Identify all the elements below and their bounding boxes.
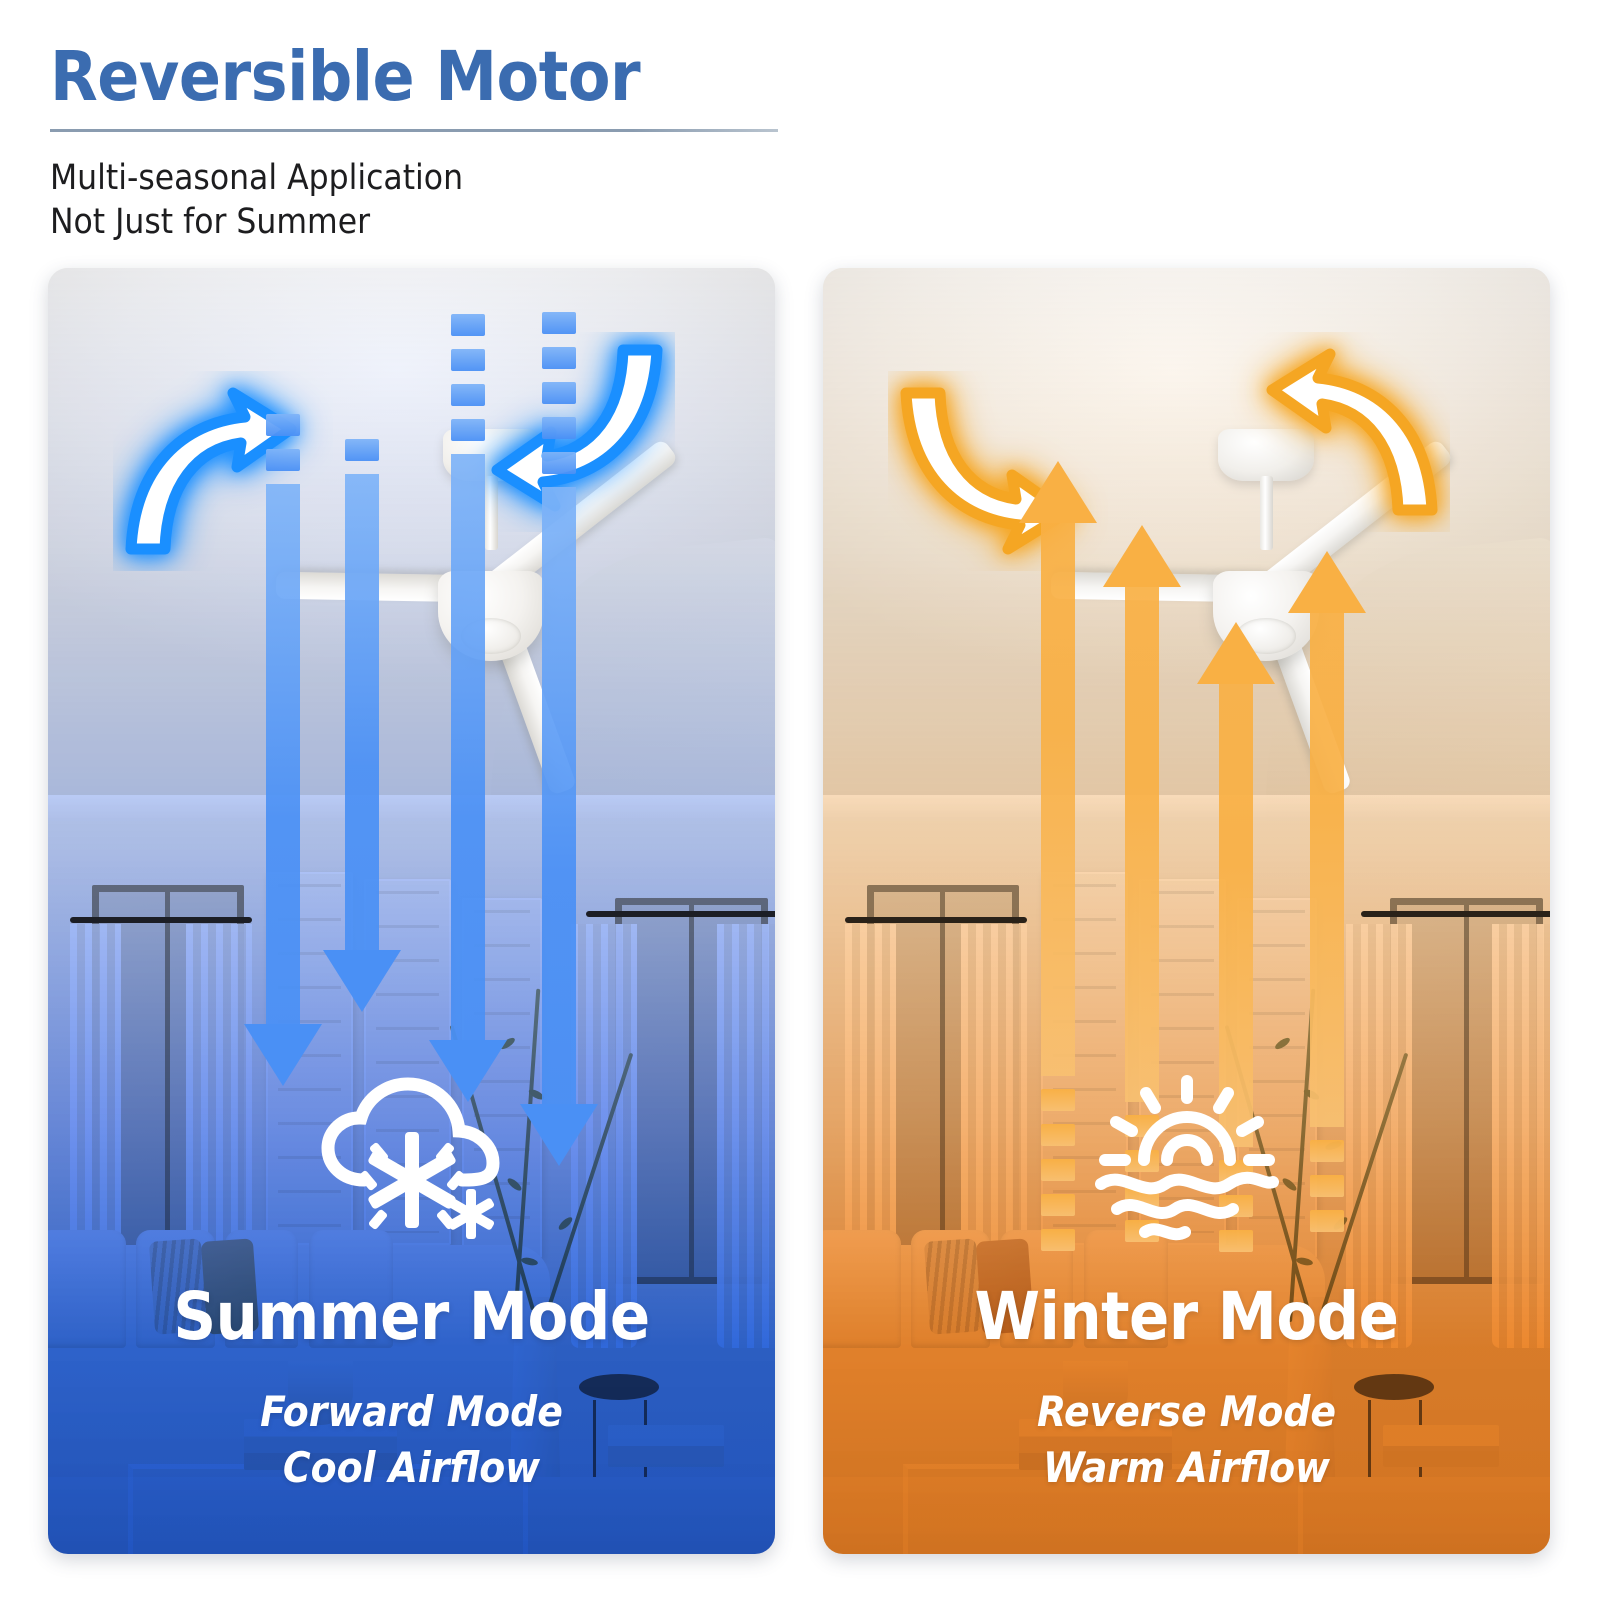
airflow-arrowhead bbox=[520, 1104, 598, 1166]
cloud-snowflake-icon bbox=[312, 1068, 512, 1248]
airflow-dash bbox=[542, 452, 576, 474]
airflow-dash bbox=[451, 384, 485, 406]
airflow-arrowhead bbox=[323, 950, 401, 1012]
airflow-arrow-up bbox=[1125, 525, 1159, 1111]
airflow-arrowhead bbox=[1103, 525, 1181, 587]
airflow-arrowhead bbox=[1019, 461, 1097, 523]
airflow-dash bbox=[1310, 1210, 1344, 1232]
airflow-dash bbox=[542, 417, 576, 439]
airflow-dash bbox=[345, 439, 379, 461]
mode-panels: Summer Mode Forward Mode Cool Airflow bbox=[48, 268, 1550, 1554]
infographic-page: Reversible Motor Multi-seasonal Applicat… bbox=[0, 0, 1598, 1598]
airflow-dash bbox=[1041, 1229, 1075, 1251]
airflow-arrowhead bbox=[1288, 551, 1366, 613]
mode-subtitle-summer: Forward Mode Cool Airflow bbox=[48, 1384, 775, 1495]
subtitle-line-2: Not Just for Summer bbox=[50, 200, 780, 245]
airflow-dash bbox=[542, 347, 576, 369]
page-subtitle: Multi-seasonal Application Not Just for … bbox=[50, 156, 780, 246]
airflow-arrow-down bbox=[266, 484, 300, 1096]
airflow-shaft bbox=[451, 454, 485, 1039]
airflow-dash bbox=[266, 449, 300, 471]
airflow-dash bbox=[542, 312, 576, 334]
mode-sub-line-1: Reverse Mode bbox=[823, 1384, 1550, 1439]
airflow-shaft bbox=[266, 484, 300, 1024]
panel-summer-mode[interactable]: Summer Mode Forward Mode Cool Airflow bbox=[48, 268, 775, 1554]
airflow-arrow-up bbox=[1041, 461, 1075, 1086]
header-block: Reversible Motor Multi-seasonal Applicat… bbox=[50, 40, 780, 245]
mode-sub-line-1: Forward Mode bbox=[48, 1384, 775, 1439]
curved-arrow-up-right-icon bbox=[113, 371, 333, 571]
airflow-dash bbox=[1041, 1089, 1075, 1111]
airflow-dash bbox=[1041, 1194, 1075, 1216]
airflow-dash bbox=[1310, 1140, 1344, 1162]
airflow-shaft bbox=[1125, 587, 1159, 1101]
airflow-dash bbox=[266, 414, 300, 436]
title-divider bbox=[50, 129, 778, 132]
airflow-dash bbox=[451, 419, 485, 441]
mode-sub-line-2: Warm Airflow bbox=[823, 1440, 1550, 1495]
airflow-arrow-down bbox=[542, 487, 576, 1176]
airflow-arrowhead bbox=[244, 1024, 322, 1086]
airflow-dash bbox=[451, 314, 485, 336]
airflow-arrow-down bbox=[345, 474, 379, 1022]
airflow-dash bbox=[451, 349, 485, 371]
mode-subtitle-winter: Reverse Mode Warm Airflow bbox=[823, 1384, 1550, 1495]
mode-title-summer: Summer Mode bbox=[48, 1278, 775, 1355]
airflow-arrow-up bbox=[1310, 551, 1344, 1137]
airflow-dash bbox=[1310, 1175, 1344, 1197]
page-title: Reversible Motor bbox=[50, 40, 780, 115]
curved-arrow-up-left-icon bbox=[1230, 332, 1450, 532]
mode-title-winter: Winter Mode bbox=[823, 1278, 1550, 1355]
panel-winter-mode[interactable]: Winter Mode Reverse Mode Warm Airflow bbox=[823, 268, 1550, 1554]
airflow-shaft bbox=[345, 474, 379, 950]
airflow-arrowhead bbox=[1197, 622, 1275, 684]
airflow-dash bbox=[1041, 1159, 1075, 1181]
airflow-dash bbox=[542, 382, 576, 404]
sunrise-waves-icon bbox=[1087, 1068, 1287, 1248]
airflow-shaft bbox=[542, 487, 576, 1104]
airflow-shaft bbox=[1041, 523, 1075, 1076]
subtitle-line-1: Multi-seasonal Application bbox=[50, 156, 780, 201]
airflow-dash bbox=[1041, 1124, 1075, 1146]
mode-sub-line-2: Cool Airflow bbox=[48, 1440, 775, 1495]
airflow-shaft bbox=[1310, 613, 1344, 1127]
airflow-arrow-down bbox=[451, 454, 485, 1111]
